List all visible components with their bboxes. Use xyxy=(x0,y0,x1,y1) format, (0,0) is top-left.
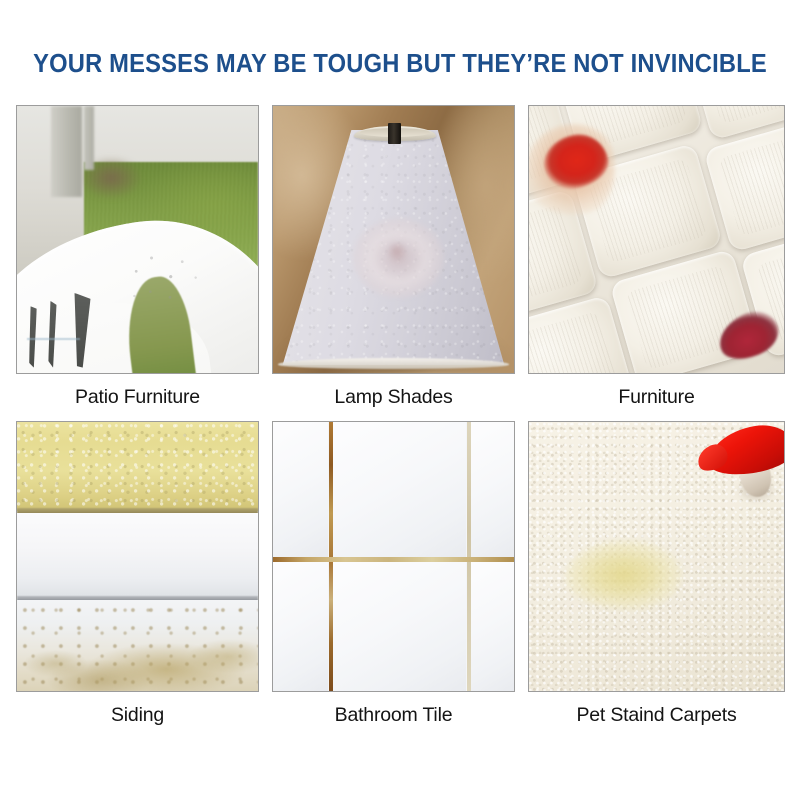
grout-horizontal xyxy=(273,557,514,562)
caption-furniture: Furniture xyxy=(528,374,785,421)
tile-r2c1 xyxy=(273,562,328,691)
siding-board-clean xyxy=(17,513,258,596)
page-title: YOUR MESSES MAY BE TOUGH BUT THEY’RE NOT… xyxy=(28,52,772,78)
gallery-cell-furniture[interactable] xyxy=(528,105,785,374)
gallery-cell-patio-furniture[interactable] xyxy=(16,105,272,374)
photo-patio-furniture[interactable] xyxy=(16,105,259,374)
caption-patio-furniture: Patio Furniture xyxy=(16,374,272,421)
tile-r2c3 xyxy=(471,562,514,691)
tile-r2c2 xyxy=(333,562,466,691)
tile-r1c1 xyxy=(273,422,328,557)
photo-lamp-shades[interactable] xyxy=(272,105,515,374)
faint-highlight-line xyxy=(27,338,80,340)
gallery-cell-siding[interactable] xyxy=(16,421,272,692)
photo-pet-staind-carpets[interactable] xyxy=(528,421,785,692)
photo-siding[interactable] xyxy=(16,421,259,692)
tile-r1c2 xyxy=(333,422,466,557)
ring-stain-core xyxy=(386,242,408,261)
siding-board-dirty xyxy=(17,600,258,691)
tile-r1c3 xyxy=(471,422,514,557)
caption-pet-staind-carpets: Pet Staind Carpets xyxy=(528,692,785,739)
grime-speckles xyxy=(112,230,210,319)
gallery-cell-bathroom-tile[interactable] xyxy=(272,421,528,692)
photo-bathroom-tile[interactable] xyxy=(272,421,515,692)
fence-post-secondary xyxy=(84,106,94,170)
lamp-fitting xyxy=(388,123,401,145)
gallery-cell-lamp-shades[interactable] xyxy=(272,105,528,374)
shade-bottom-rim xyxy=(278,358,509,369)
pet-urine-stain xyxy=(565,540,682,610)
caption-bathroom-tile: Bathroom Tile xyxy=(272,692,528,739)
image-gallery-grid: Patio Furniture Lamp Shades Furniture xyxy=(16,105,785,739)
caption-siding: Siding xyxy=(16,692,272,739)
caption-lamp-shades: Lamp Shades xyxy=(272,374,528,421)
siding-board-yellowed xyxy=(17,422,258,511)
photo-furniture[interactable] xyxy=(528,105,785,374)
gallery-cell-pet-staind-carpets[interactable] xyxy=(528,421,785,692)
fence-post xyxy=(51,106,82,197)
